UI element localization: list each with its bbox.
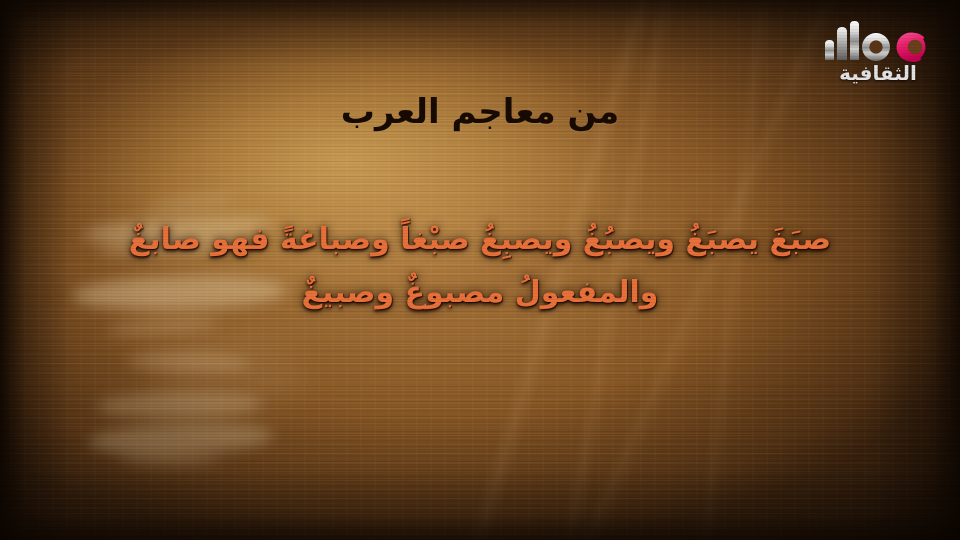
channel-name-label: الثقافية xyxy=(812,63,944,84)
entry-line-1: صبَغَ يصبَغُ ويصبُغُ ويصبِغُ صبْغاً وصبا… xyxy=(40,216,920,265)
entry-line-2: والمفعولُ مصبوغٌ وصبيغٌ xyxy=(40,269,920,318)
dictionary-entry: صبَغَ يصبَغُ ويصبُغُ ويصبِغُ صبْغاً وصبا… xyxy=(40,216,920,317)
ubc-logo-icon xyxy=(819,20,937,62)
channel-logo: الثقافية xyxy=(812,20,944,84)
segment-title: من معاجم العرب xyxy=(0,92,960,132)
broadcast-frame: من معاجم العرب صبَغَ يصبَغُ ويصبُغُ ويصب… xyxy=(0,0,960,540)
